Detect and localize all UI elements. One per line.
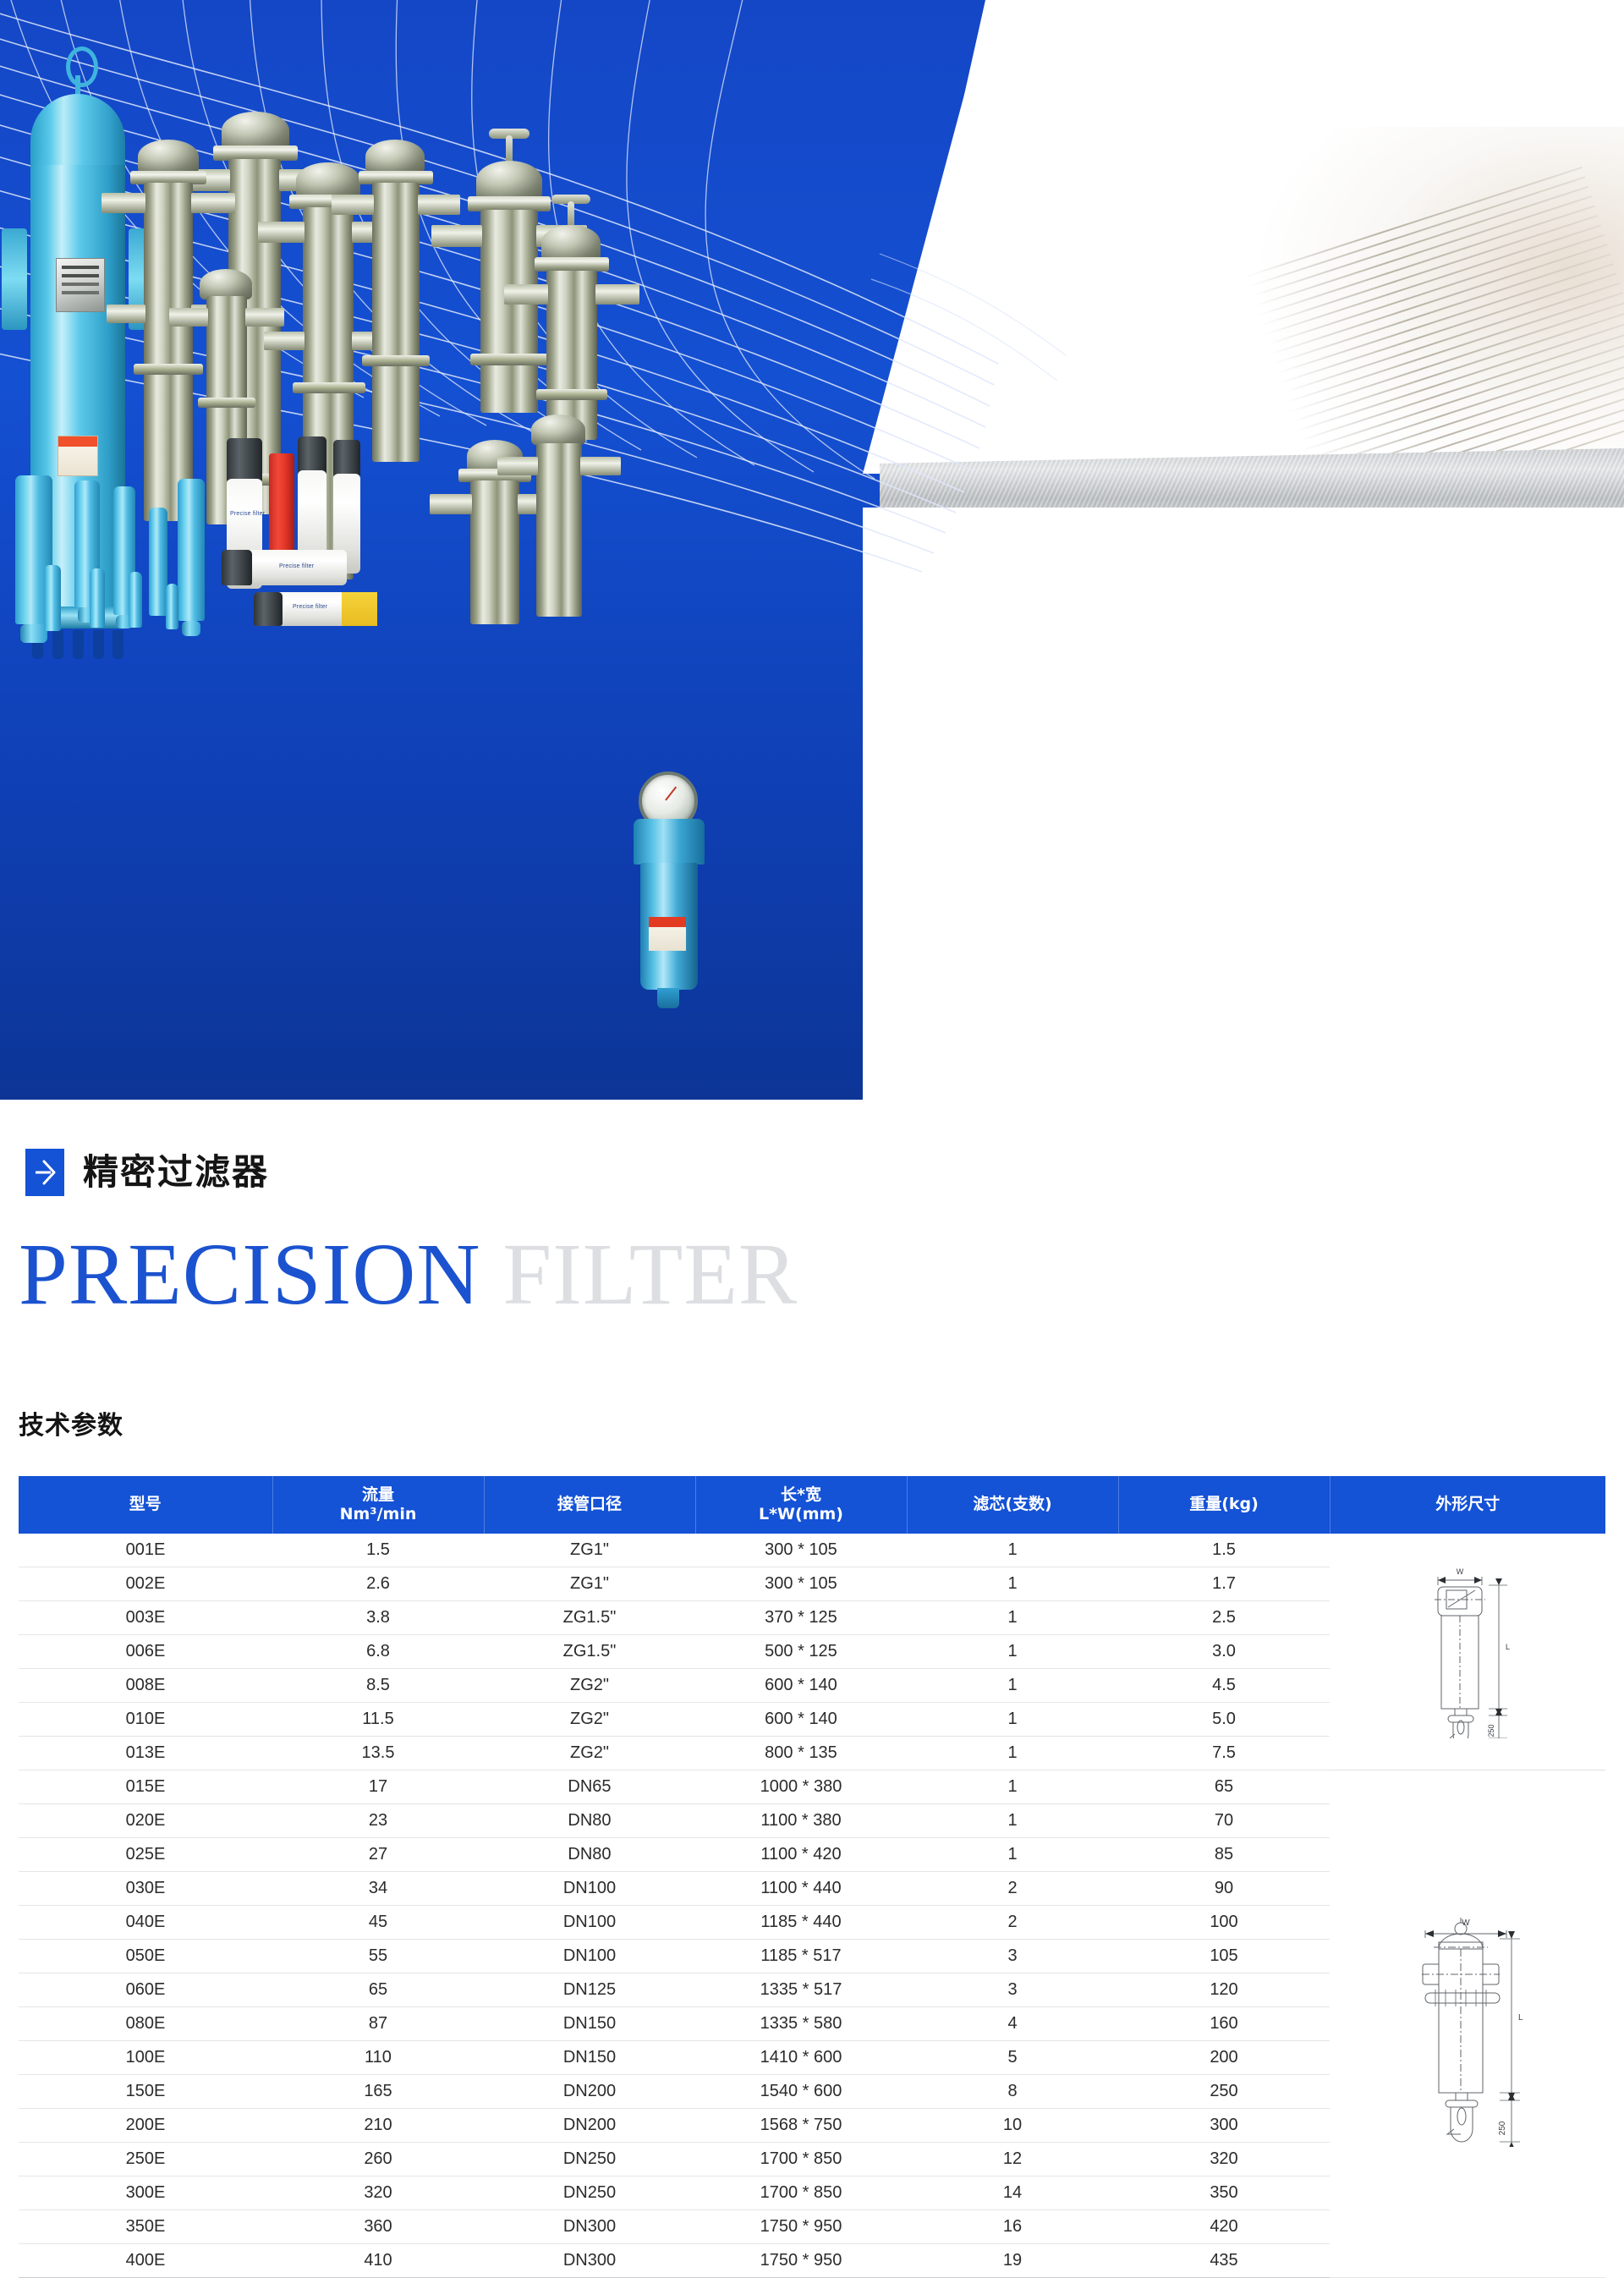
cell-model: 008E xyxy=(19,1669,272,1703)
cell-flow: 87 xyxy=(272,2007,484,2041)
col-header-model: 型号 xyxy=(19,1476,272,1534)
cell-elements: 5 xyxy=(907,2041,1118,2075)
col-header-weight-cn: 重量(kg) xyxy=(1122,1495,1326,1514)
housing-label xyxy=(649,917,686,951)
cell-dim: 800 * 135 xyxy=(695,1737,907,1770)
ss-dome-5 xyxy=(200,269,252,299)
cell-elements: 1 xyxy=(907,1703,1118,1737)
cell-elements: 3 xyxy=(907,1973,1118,2007)
ss-port-6l xyxy=(431,225,482,247)
col-header-connection-cn: 接管口径 xyxy=(488,1495,692,1514)
svg-text:L: L xyxy=(1506,1643,1510,1651)
cell-conn: DN80 xyxy=(484,1804,695,1838)
ss-dome-7 xyxy=(541,225,601,261)
cell-flow: 3.8 xyxy=(272,1601,484,1635)
spec-header-row: 型号 流量 Nm³/min 接管口径 长*宽 L*W(mm) 滤芯(支数) 重量 xyxy=(19,1476,1605,1534)
ss-body-8 xyxy=(470,480,519,624)
cell-elements: 16 xyxy=(907,2210,1118,2244)
cell-model: 100E xyxy=(19,2041,272,2075)
cell-model: 350E xyxy=(19,2210,272,2244)
cell-flow: 1.5 xyxy=(272,1534,484,1567)
cell-elements: 1 xyxy=(907,1838,1118,1872)
cartridge-endcap-dark-5 xyxy=(254,592,283,626)
cell-conn: ZG2" xyxy=(484,1737,695,1770)
ss-port-8l xyxy=(430,494,472,514)
cell-weight: 4.5 xyxy=(1118,1669,1330,1703)
cell-conn: DN150 xyxy=(484,2007,695,2041)
cell-dim: 1335 * 580 xyxy=(695,2007,907,2041)
blue-cartridge-7 xyxy=(90,568,105,628)
cell-flow: 210 xyxy=(272,2109,484,2143)
cell-conn: DN100 xyxy=(484,1906,695,1940)
housing-drain xyxy=(657,988,679,1008)
cell-model: 025E xyxy=(19,1838,272,1872)
cell-flow: 11.5 xyxy=(272,1703,484,1737)
ss-port-3l xyxy=(258,222,304,243)
cell-dim: 370 * 125 xyxy=(695,1601,907,1635)
cell-weight: 1.7 xyxy=(1118,1567,1330,1601)
cell-outline-drawing-flanged: W L 250 xyxy=(1330,1770,1605,2278)
blue-cartridge-9 xyxy=(166,584,178,629)
cell-flow: 45 xyxy=(272,1906,484,1940)
cell-model: 400E xyxy=(19,2244,272,2278)
cell-elements: 2 xyxy=(907,1906,1118,1940)
svg-text:L: L xyxy=(1518,2013,1523,2023)
ss-dome-3 xyxy=(296,162,360,198)
section-heading: 精密过滤器 xyxy=(25,1149,269,1196)
cell-weight: 200 xyxy=(1118,2041,1330,2075)
flanged-filter-outline-drawing: W L 250 xyxy=(1400,1902,1535,2147)
svg-text:250: 250 xyxy=(1498,2121,1507,2135)
cell-model: 040E xyxy=(19,1906,272,1940)
ss-port-4l xyxy=(332,195,374,215)
cell-conn: DN250 xyxy=(484,2176,695,2210)
cell-model: 003E xyxy=(19,1601,272,1635)
ss-ring-2 xyxy=(134,364,203,375)
cell-weight: 250 xyxy=(1118,2075,1330,2109)
cell-conn: DN200 xyxy=(484,2109,695,2143)
cell-dim: 1100 * 440 xyxy=(695,1872,907,1906)
cell-dim: 1335 * 517 xyxy=(695,1973,907,2007)
col-header-outline-cn: 外形尺寸 xyxy=(1334,1495,1603,1514)
lifting-eye xyxy=(66,47,98,87)
ss-ring-4 xyxy=(362,355,430,366)
cell-dim: 1700 * 850 xyxy=(695,2143,907,2176)
ss-port-9l xyxy=(497,457,538,475)
cell-dim: 300 * 105 xyxy=(695,1567,907,1601)
cell-conn: ZG1.5" xyxy=(484,1635,695,1669)
cell-model: 020E xyxy=(19,1804,272,1838)
cell-flow: 110 xyxy=(272,2041,484,2075)
cell-elements: 1 xyxy=(907,1737,1118,1770)
col-header-dimensions: 长*宽 L*W(mm) xyxy=(695,1476,907,1534)
cell-conn: DN100 xyxy=(484,1940,695,1973)
cell-flow: 55 xyxy=(272,1940,484,1973)
ss-ring-3 xyxy=(293,382,365,393)
cell-model: 010E xyxy=(19,1703,272,1737)
cell-flow: 165 xyxy=(272,2075,484,2109)
ss-ring-5 xyxy=(198,398,255,408)
cell-flow: 23 xyxy=(272,1804,484,1838)
col-header-elements-cn: 滤芯(支数) xyxy=(911,1495,1115,1514)
hero-banner: Precise filter Precise filter Precise fi… xyxy=(0,0,1624,1100)
cell-elements: 10 xyxy=(907,2109,1118,2143)
cell-elements: 14 xyxy=(907,2176,1118,2210)
cell-model: 015E xyxy=(19,1770,272,1804)
spec-table: 型号 流量 Nm³/min 接管口径 长*宽 L*W(mm) 滤芯(支数) 重量 xyxy=(19,1476,1605,2278)
cell-dim: 1568 * 750 xyxy=(695,2109,907,2143)
cell-elements: 1 xyxy=(907,1669,1118,1703)
col-header-flow: 流量 Nm³/min xyxy=(272,1476,484,1534)
cell-dim: 1750 * 950 xyxy=(695,2244,907,2278)
blue-cartridge-5 xyxy=(178,479,205,621)
cell-elements: 3 xyxy=(907,1940,1118,1973)
arrow-right-icon xyxy=(25,1149,64,1196)
cell-elements: 12 xyxy=(907,2143,1118,2176)
cell-flow: 360 xyxy=(272,2210,484,2244)
nameplate xyxy=(56,258,105,312)
cell-weight: 70 xyxy=(1118,1804,1330,1838)
cell-conn: ZG1" xyxy=(484,1534,695,1567)
cell-model: 080E xyxy=(19,2007,272,2041)
cell-dim: 1100 * 380 xyxy=(695,1804,907,1838)
cell-elements: 1 xyxy=(907,1635,1118,1669)
cell-dim: 1000 * 380 xyxy=(695,1770,907,1804)
cell-elements: 1 xyxy=(907,1567,1118,1601)
cell-outline-drawing-threaded: W L 250 xyxy=(1330,1534,1605,1770)
cell-conn: DN300 xyxy=(484,2244,695,2278)
cell-weight: 105 xyxy=(1118,1940,1330,1973)
cell-dim: 1185 * 440 xyxy=(695,1906,907,1940)
cartridge-endcap-dark-4 xyxy=(222,550,252,585)
cell-flow: 8.5 xyxy=(272,1669,484,1703)
cell-elements: 1 xyxy=(907,1804,1118,1838)
cartridge-brand-3: Precise filter xyxy=(293,604,327,610)
cell-weight: 90 xyxy=(1118,1872,1330,1906)
cell-elements: 1 xyxy=(907,1601,1118,1635)
ss-port-7r xyxy=(595,284,639,305)
svg-text:W: W xyxy=(1457,1567,1464,1576)
product-filter-housing-with-gauge xyxy=(630,771,708,1008)
cell-weight: 100 xyxy=(1118,1906,1330,1940)
cell-dim: 600 * 140 xyxy=(695,1669,907,1703)
cell-weight: 420 xyxy=(1118,2210,1330,2244)
cell-elements: 1 xyxy=(907,1534,1118,1567)
tech-params-heading: 技术参数 xyxy=(19,1404,123,1441)
ss-dome-1 xyxy=(222,112,289,149)
ss-port-3l2 xyxy=(264,332,304,350)
cell-elements: 8 xyxy=(907,2075,1118,2109)
cell-flow: 320 xyxy=(272,2176,484,2210)
cartridge-endcap-dark-1 xyxy=(227,438,262,482)
cell-flow: 2.6 xyxy=(272,1567,484,1601)
cell-flow: 260 xyxy=(272,2143,484,2176)
cell-elements: 2 xyxy=(907,1872,1118,1906)
ss-ring-6 xyxy=(470,354,548,365)
table-row: 001E1.5ZG1"300 * 10511.5 xyxy=(19,1534,1605,1567)
cell-flow: 6.8 xyxy=(272,1635,484,1669)
cartridge-endcap-yellow xyxy=(342,592,377,626)
cell-weight: 3.0 xyxy=(1118,1635,1330,1669)
ss-body-4 xyxy=(372,183,420,462)
ss-body-6 xyxy=(480,210,538,413)
cell-weight: 7.5 xyxy=(1118,1737,1330,1770)
cell-flow: 65 xyxy=(272,1973,484,2007)
ss-dome-2 xyxy=(138,140,199,173)
cell-conn: ZG1" xyxy=(484,1567,695,1601)
cell-conn: ZG1.5" xyxy=(484,1601,695,1635)
threaded-filter-outline-drawing: W L 250 xyxy=(1404,1565,1531,1738)
cell-model: 150E xyxy=(19,2075,272,2109)
cell-conn: DN200 xyxy=(484,2075,695,2109)
cell-model: 300E xyxy=(19,2176,272,2210)
page-title: PRECISIONFILTER xyxy=(19,1231,798,1319)
cell-dim: 1410 * 600 xyxy=(695,2041,907,2075)
cartridge-brand-1: Precise filter xyxy=(230,511,265,517)
cell-flow: 27 xyxy=(272,1838,484,1872)
cell-conn: DN65 xyxy=(484,1770,695,1804)
ss-dome-4 xyxy=(365,140,425,173)
ss-port-2r xyxy=(191,193,235,213)
cell-weight: 300 xyxy=(1118,2109,1330,2143)
cell-weight: 320 xyxy=(1118,2143,1330,2176)
cell-model: 060E xyxy=(19,1973,272,2007)
cell-dim: 1750 * 950 xyxy=(695,2210,907,2244)
cell-model: 002E xyxy=(19,1567,272,1601)
cartridge-endcap-dark-3 xyxy=(333,440,360,477)
cell-dim: 1185 * 517 xyxy=(695,1940,907,1973)
cell-weight: 120 xyxy=(1118,1973,1330,2007)
section-title-cn: 精密过滤器 xyxy=(83,1155,269,1190)
cell-conn: DN100 xyxy=(484,1872,695,1906)
cell-conn: ZG2" xyxy=(484,1703,695,1737)
blue-cartridge-6 xyxy=(44,565,61,631)
cell-conn: DN125 xyxy=(484,1973,695,2007)
spec-table-body: 001E1.5ZG1"300 * 10511.5 xyxy=(19,1534,1605,2278)
cell-weight: 85 xyxy=(1118,1838,1330,1872)
spec-table-wrapper: 型号 流量 Nm³/min 接管口径 长*宽 L*W(mm) 滤芯(支数) 重量 xyxy=(19,1476,1605,2278)
cartridge-brand-2: Precise filter xyxy=(279,563,314,569)
ss-port-5l xyxy=(169,308,208,327)
cell-weight: 2.5 xyxy=(1118,1601,1330,1635)
ss-port-9r xyxy=(580,457,621,475)
cell-conn: DN300 xyxy=(484,2210,695,2244)
col-header-connection: 接管口径 xyxy=(484,1476,695,1534)
cell-conn: DN80 xyxy=(484,1838,695,1872)
cell-elements: 19 xyxy=(907,2244,1118,2278)
svg-text:W: W xyxy=(1462,1918,1470,1928)
cell-model: 006E xyxy=(19,1635,272,1669)
col-header-outline: 外形尺寸 xyxy=(1330,1476,1605,1534)
cell-model: 250E xyxy=(19,2143,272,2176)
cell-weight: 350 xyxy=(1118,2176,1330,2210)
ss-port-2l xyxy=(101,193,145,213)
cell-weight: 5.0 xyxy=(1118,1703,1330,1737)
col-header-elements: 滤芯(支数) xyxy=(907,1476,1118,1534)
blue-cartridge-8 xyxy=(129,572,142,628)
ss-dome-6 xyxy=(476,161,542,200)
cell-dim: 500 * 125 xyxy=(695,1635,907,1669)
blue-cartridge-5-cap xyxy=(182,621,200,636)
svg-text:250: 250 xyxy=(1487,1724,1495,1737)
cell-dim: 600 * 140 xyxy=(695,1703,907,1737)
cell-elements: 4 xyxy=(907,2007,1118,2041)
blue-cartridge-4 xyxy=(149,508,167,616)
cell-weight: 65 xyxy=(1118,1770,1330,1804)
cell-conn: ZG2" xyxy=(484,1669,695,1703)
cell-dim: 300 * 105 xyxy=(695,1534,907,1567)
cell-flow: 34 xyxy=(272,1872,484,1906)
vessel-dome xyxy=(30,94,125,170)
ss-handle-stem-6 xyxy=(506,135,513,164)
ss-body-9 xyxy=(536,443,582,617)
cell-model: 200E xyxy=(19,2109,272,2143)
page-title-secondary: FILTER xyxy=(502,1226,798,1323)
ss-dome-9 xyxy=(531,414,585,445)
cell-conn: DN250 xyxy=(484,2143,695,2176)
ss-body-2 xyxy=(144,183,193,521)
cell-elements: 1 xyxy=(907,1770,1118,1804)
cell-model: 050E xyxy=(19,1940,272,1973)
table-row: 015E17DN651000 * 380165 xyxy=(19,1770,1605,1804)
warning-label xyxy=(58,436,98,476)
housing-head xyxy=(634,819,705,865)
cell-weight: 1.5 xyxy=(1118,1534,1330,1567)
ss-ring-7 xyxy=(536,389,607,400)
hero-white-lower xyxy=(863,508,1624,1100)
cell-model: 030E xyxy=(19,1872,272,1906)
cell-weight: 435 xyxy=(1118,2244,1330,2278)
ss-port-2l2 xyxy=(107,305,145,323)
cell-flow: 13.5 xyxy=(272,1737,484,1770)
cell-flow: 17 xyxy=(272,1770,484,1804)
cell-model: 001E xyxy=(19,1534,272,1567)
cell-weight: 160 xyxy=(1118,2007,1330,2041)
inlet-flange xyxy=(2,228,27,330)
col-header-weight: 重量(kg) xyxy=(1118,1476,1330,1534)
col-header-dimensions-cn: 长*宽 xyxy=(700,1485,903,1505)
cell-dim: 1700 * 850 xyxy=(695,2176,907,2210)
spec-table-head: 型号 流量 Nm³/min 接管口径 长*宽 L*W(mm) 滤芯(支数) 重量 xyxy=(19,1476,1605,1534)
col-header-model-cn: 型号 xyxy=(22,1495,269,1514)
page-title-primary: PRECISION xyxy=(19,1226,480,1323)
cell-model: 013E xyxy=(19,1737,272,1770)
cell-dim: 1540 * 600 xyxy=(695,2075,907,2109)
ss-flange-7 xyxy=(535,257,609,272)
ss-port-4r xyxy=(418,195,460,215)
ss-port-7l xyxy=(504,284,548,305)
cell-conn: DN150 xyxy=(484,2041,695,2075)
col-header-flow-cn: 流量 xyxy=(277,1485,480,1505)
cell-flow: 410 xyxy=(272,2244,484,2278)
cell-dim: 1100 * 420 xyxy=(695,1838,907,1872)
col-header-dimensions-unit: L*W(mm) xyxy=(700,1505,903,1524)
ss-port-5r xyxy=(245,308,284,327)
col-header-flow-unit: Nm³/min xyxy=(277,1505,480,1524)
